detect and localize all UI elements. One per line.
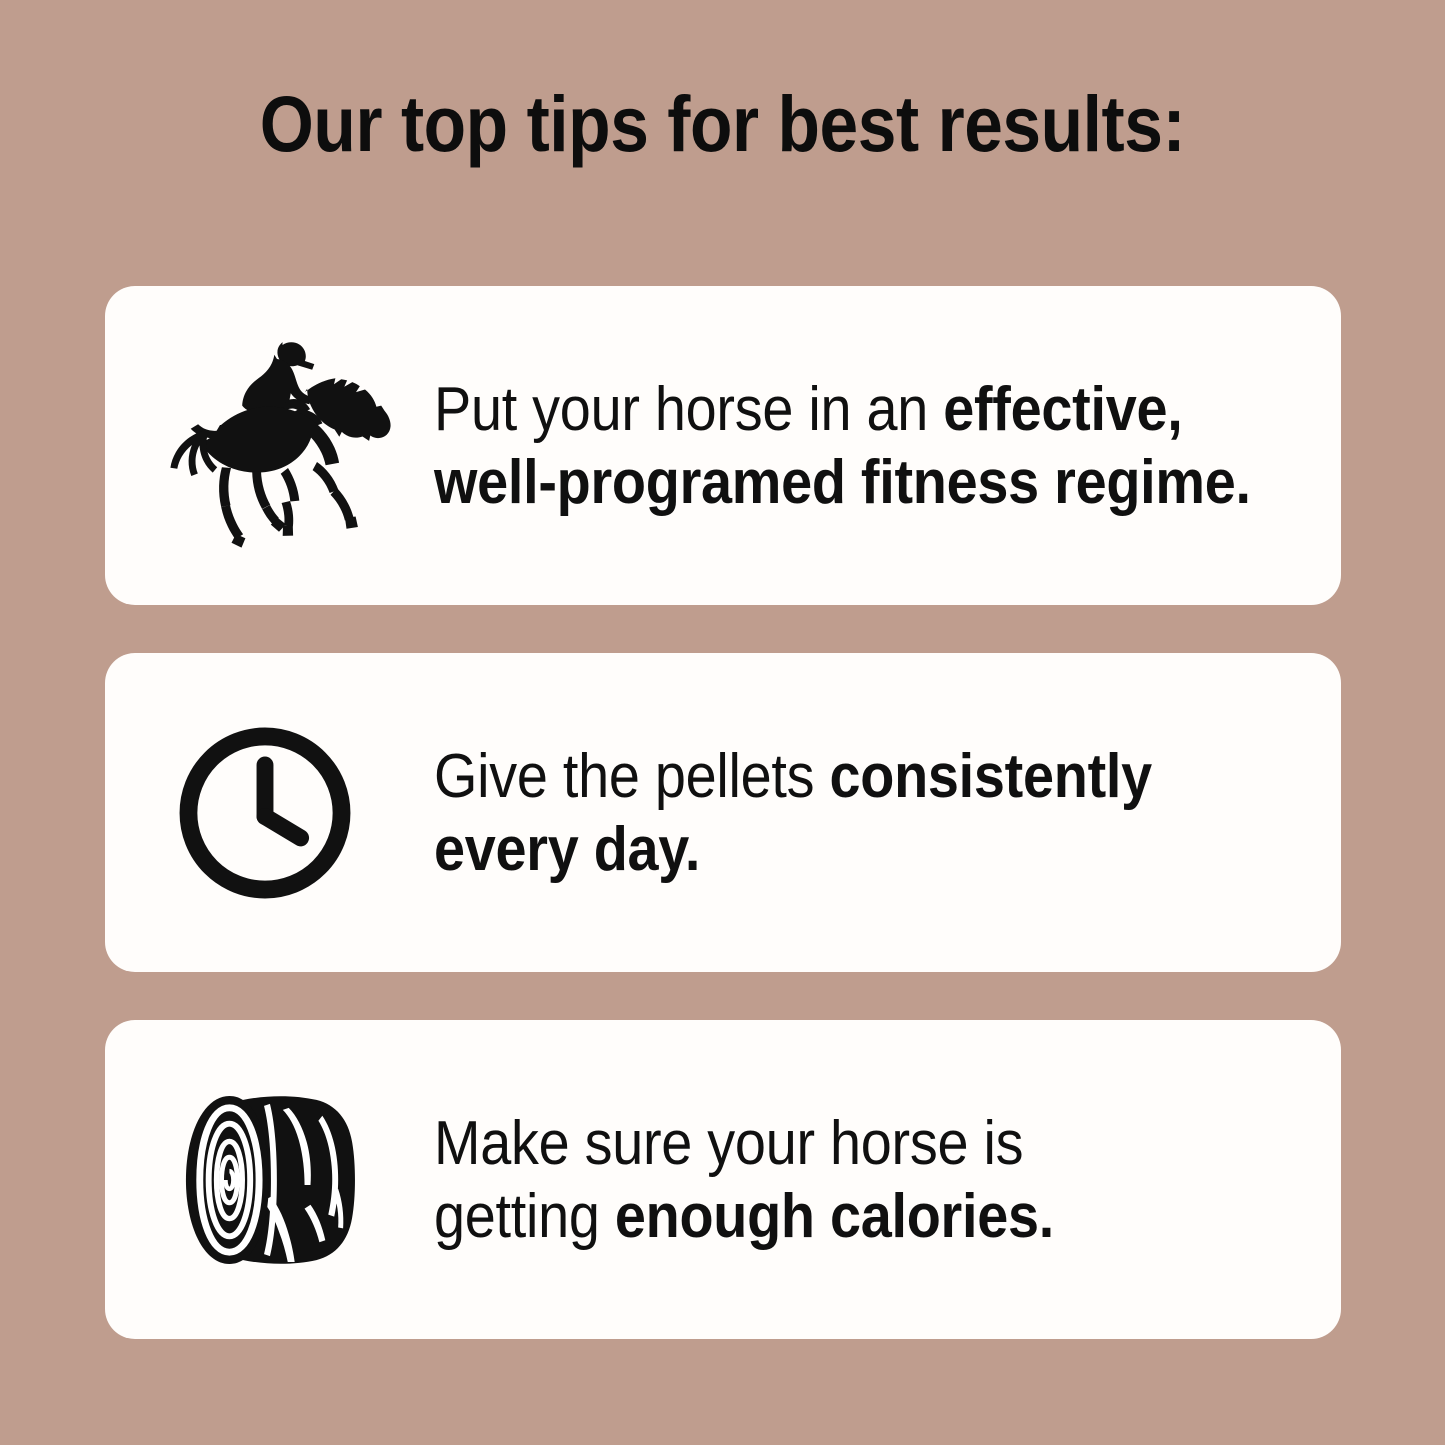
tip-icon-container	[105, 286, 434, 605]
tip-card-calories: Make sure your horse is getting enough c…	[105, 1020, 1341, 1339]
tip-text-container: Put your horse in an effective, well-pro…	[434, 373, 1341, 519]
tip-line-bold: well-programed fitness regime.	[434, 448, 1251, 517]
horse-and-rider-icon	[149, 340, 395, 552]
tip-text-container: Make sure your horse is getting enough c…	[434, 1107, 1341, 1253]
tip-text-container: Give the pellets consistently every day.	[434, 740, 1341, 886]
hay-bale-icon	[172, 1094, 360, 1266]
tip-text: Give the pellets consistently every day.	[434, 740, 1227, 886]
tips-poster: Our top tips for best results:	[0, 0, 1445, 1445]
tip-text: Make sure your horse is getting enough c…	[434, 1107, 1227, 1253]
clock-icon	[176, 724, 354, 902]
tip-icon-container	[105, 653, 434, 972]
tip-card-consistency: Give the pellets consistently every day.	[105, 653, 1341, 972]
page-title: Our top tips for best results:	[87, 78, 1359, 170]
tips-card-list: Put your horse in an effective, well-pro…	[105, 286, 1341, 1339]
tip-card-fitness-regime: Put your horse in an effective, well-pro…	[105, 286, 1341, 605]
tip-line-normal: Make sure your horse is	[434, 1109, 1023, 1178]
tip-icon-container	[105, 1020, 434, 1339]
tip-line-normal: Give the pellets	[434, 742, 830, 811]
tip-line-normal: Put your horse in an	[434, 375, 943, 444]
tip-line-bold: every day.	[434, 815, 700, 884]
tip-line-bold: consistently	[830, 742, 1152, 811]
tip-line-bold: effective,	[943, 375, 1182, 444]
tip-line-normal: getting	[434, 1182, 615, 1251]
tip-line-bold: enough calories.	[615, 1182, 1054, 1251]
tip-text: Put your horse in an effective, well-pro…	[434, 373, 1251, 519]
